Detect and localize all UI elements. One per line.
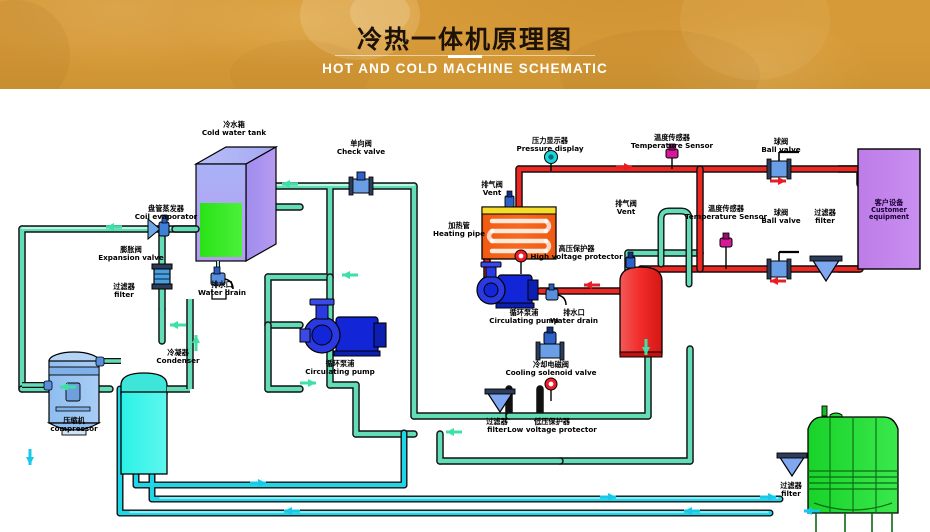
cooling-solenoid-valve: [536, 327, 564, 360]
page-subtitle: HOT AND COLD MACHINE SCHEMATIC: [0, 61, 930, 76]
cooling-water-pipe-fill: [120, 389, 780, 513]
chilled-lower-runs: [22, 277, 560, 461]
circulating-pump-1: [300, 299, 386, 356]
hot-tank-bypass-loop: [661, 211, 689, 284]
title-divider-accent: [448, 55, 482, 58]
customer-equipment-box: [858, 149, 920, 269]
schematic-svg: [0, 89, 930, 532]
hot-water-tank: [620, 267, 662, 357]
filter-left-strainer: [152, 264, 172, 289]
vent-valve-1: [505, 191, 514, 207]
water-drain-valve-1: [211, 261, 233, 299]
check-valve: [349, 172, 373, 195]
title-divider: [0, 55, 930, 57]
cooling-water-pipe-network: [120, 389, 780, 513]
circulating-pump-2: [477, 262, 538, 308]
filter-tower-strainer: [777, 453, 807, 476]
cold-water-tank: [196, 147, 276, 261]
high-voltage-protector: [515, 250, 527, 274]
cooling-tower: [808, 406, 898, 532]
temperature-sensor-2: [720, 233, 732, 269]
page-header: 冷热一体机原理图 HOT AND COLD MACHINE SCHEMATIC: [0, 0, 930, 89]
low-voltage-protector: [545, 378, 557, 401]
schematic-page: 冷热一体机原理图 HOT AND COLD MACHINE SCHEMATIC: [0, 0, 930, 532]
compressor: [22, 352, 121, 435]
page-title: 冷热一体机原理图: [0, 20, 930, 56]
schematic-canvas: 冷水箱Cold water tank 单向阀Check valve 压力显示器P…: [0, 89, 930, 532]
